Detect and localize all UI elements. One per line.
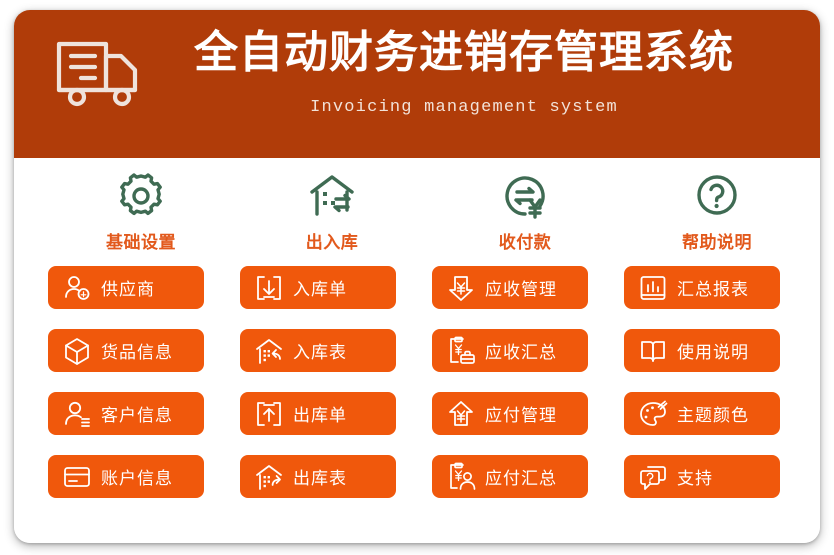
- button-theme-color[interactable]: 主题颜色: [624, 392, 780, 435]
- arrow-down-bracket-icon: [254, 273, 284, 303]
- button-label: 供应商: [101, 275, 155, 300]
- palette-icon: [638, 399, 668, 429]
- button-label: 入库单: [293, 275, 347, 300]
- button-label: 入库表: [293, 338, 347, 363]
- currency-exchange-circle-icon: [499, 170, 551, 222]
- button-inbound-order[interactable]: 入库单: [240, 266, 396, 309]
- arrow-down-yen-icon: [446, 273, 476, 303]
- page-title: 全自动财务进销存管理系统: [124, 22, 804, 84]
- app-header: 全自动财务进销存管理系统 Invoicing management system: [14, 10, 820, 158]
- module-button-grid: 供应商 货品信息: [14, 266, 820, 538]
- button-receivable-management[interactable]: 应收管理: [432, 266, 588, 309]
- button-label: 客户信息: [101, 401, 173, 426]
- category-row: 基础设置 出入库: [14, 170, 820, 268]
- button-payable-management[interactable]: 应付管理: [432, 392, 588, 435]
- category-label: 收付款: [450, 228, 600, 253]
- bar-chart-book-icon: [638, 273, 668, 303]
- box-cube-icon: [62, 336, 92, 366]
- credit-card-icon: [62, 462, 92, 492]
- supplier-person-icon: [62, 273, 92, 303]
- category-label: 基础设置: [66, 228, 216, 253]
- button-goods-info[interactable]: 货品信息: [48, 329, 204, 372]
- button-supplier[interactable]: 供应商: [48, 266, 204, 309]
- app-body: 基础设置 出入库: [14, 158, 820, 543]
- category-label: 帮助说明: [642, 228, 792, 253]
- button-inbound-table[interactable]: 入库表: [240, 329, 396, 372]
- button-label: 出库表: [293, 464, 347, 489]
- application-window: 全自动财务进销存管理系统 Invoicing management system…: [14, 10, 820, 543]
- page-subtitle: Invoicing management system: [124, 98, 804, 117]
- button-payable-summary[interactable]: 应付汇总: [432, 455, 588, 498]
- button-support[interactable]: 支持: [624, 455, 780, 498]
- button-outbound-order[interactable]: 出库单: [240, 392, 396, 435]
- button-label: 主题颜色: [677, 401, 749, 426]
- category-help[interactable]: 帮助说明: [642, 170, 792, 253]
- clipboard-yen-person-icon: [446, 462, 476, 492]
- warehouse-out-icon: [254, 462, 284, 492]
- button-label: 货品信息: [101, 338, 173, 363]
- button-summary-report[interactable]: 汇总报表: [624, 266, 780, 309]
- clipboard-yen-briefcase-icon: [446, 336, 476, 366]
- question-speech-bubble-icon: [638, 462, 668, 492]
- open-book-icon: [638, 336, 668, 366]
- gear-icon: [115, 170, 167, 222]
- button-customer-info[interactable]: 客户信息: [48, 392, 204, 435]
- button-receivable-summary[interactable]: 应收汇总: [432, 329, 588, 372]
- question-circle-icon: [691, 170, 743, 222]
- button-label: 应付管理: [485, 401, 557, 426]
- arrow-up-yen-icon: [446, 399, 476, 429]
- button-label: 出库单: [293, 401, 347, 426]
- category-basic-settings[interactable]: 基础设置: [66, 170, 216, 253]
- button-label: 应收汇总: [485, 338, 557, 363]
- button-user-manual[interactable]: 使用说明: [624, 329, 780, 372]
- customer-person-icon: [62, 399, 92, 429]
- button-label: 汇总报表: [677, 275, 749, 300]
- button-label: 账户信息: [101, 464, 173, 489]
- warehouse-exchange-icon: [306, 170, 358, 222]
- button-label: 使用说明: [677, 338, 749, 363]
- category-label: 出入库: [257, 228, 407, 253]
- button-label: 支持: [677, 464, 713, 489]
- category-payment[interactable]: 收付款: [450, 170, 600, 253]
- button-label: 应付汇总: [485, 464, 557, 489]
- button-outbound-table[interactable]: 出库表: [240, 455, 396, 498]
- button-account-info[interactable]: 账户信息: [48, 455, 204, 498]
- category-warehouse[interactable]: 出入库: [257, 170, 407, 253]
- arrow-up-bracket-icon: [254, 399, 284, 429]
- warehouse-in-icon: [254, 336, 284, 366]
- button-label: 应收管理: [485, 275, 557, 300]
